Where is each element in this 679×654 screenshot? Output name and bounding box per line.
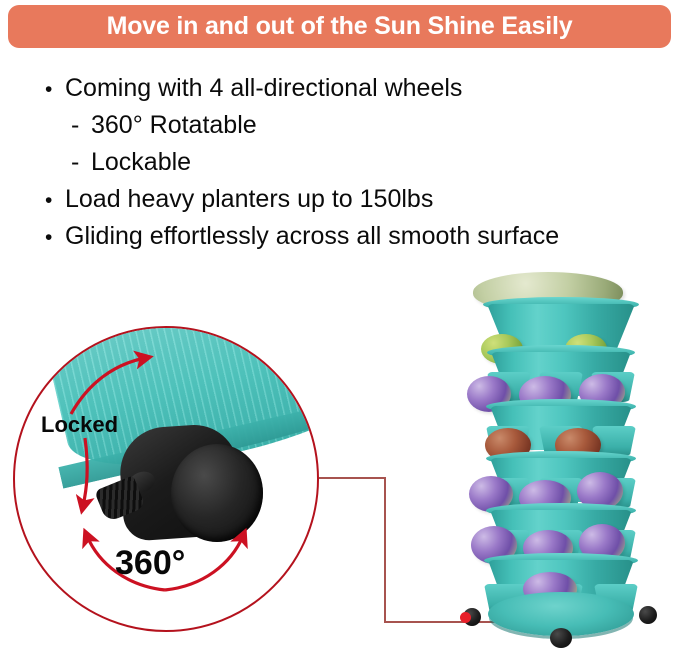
dash-icon: - bbox=[71, 144, 91, 181]
feature-item-0: • Coming with 4 all-directional wheels bbox=[45, 70, 670, 107]
caster-wheel-face bbox=[171, 444, 263, 542]
feature-label: Gliding effortlessly across all smooth s… bbox=[65, 218, 559, 255]
planter-tower-product bbox=[443, 272, 679, 654]
bullet-icon: • bbox=[45, 182, 65, 219]
bullet-icon: • bbox=[45, 71, 65, 108]
bullet-icon: • bbox=[45, 219, 65, 256]
wheel-detail-callout: Locked 360° bbox=[13, 326, 319, 632]
dash-icon: - bbox=[71, 107, 91, 144]
feature-item-3: • Load heavy planters up to 150lbs bbox=[45, 181, 670, 218]
feature-item-4: • Gliding effortlessly across all smooth… bbox=[45, 218, 670, 255]
feature-label: 360° Rotatable bbox=[91, 107, 257, 144]
header-banner: Move in and out of the Sun Shine Easily bbox=[8, 5, 671, 48]
feature-label: Load heavy planters up to 150lbs bbox=[65, 181, 433, 218]
feature-list: • Coming with 4 all-directional wheels -… bbox=[45, 70, 670, 255]
base-caster-right bbox=[639, 606, 657, 624]
feature-label: Coming with 4 all-directional wheels bbox=[65, 70, 462, 107]
base-caster-front bbox=[550, 628, 572, 648]
feature-label: Lockable bbox=[91, 144, 191, 181]
caster-highlight-dot bbox=[460, 612, 471, 623]
locked-label: Locked bbox=[41, 414, 118, 436]
caster-wheel-illustration bbox=[115, 426, 265, 546]
rotation-degrees-label: 360° bbox=[115, 546, 185, 580]
page-title: Move in and out of the Sun Shine Easily bbox=[107, 14, 573, 39]
callout-circle-border: Locked 360° bbox=[13, 326, 319, 632]
feature-item-2: - Lockable bbox=[45, 144, 670, 181]
feature-item-1: - 360° Rotatable bbox=[45, 107, 670, 144]
